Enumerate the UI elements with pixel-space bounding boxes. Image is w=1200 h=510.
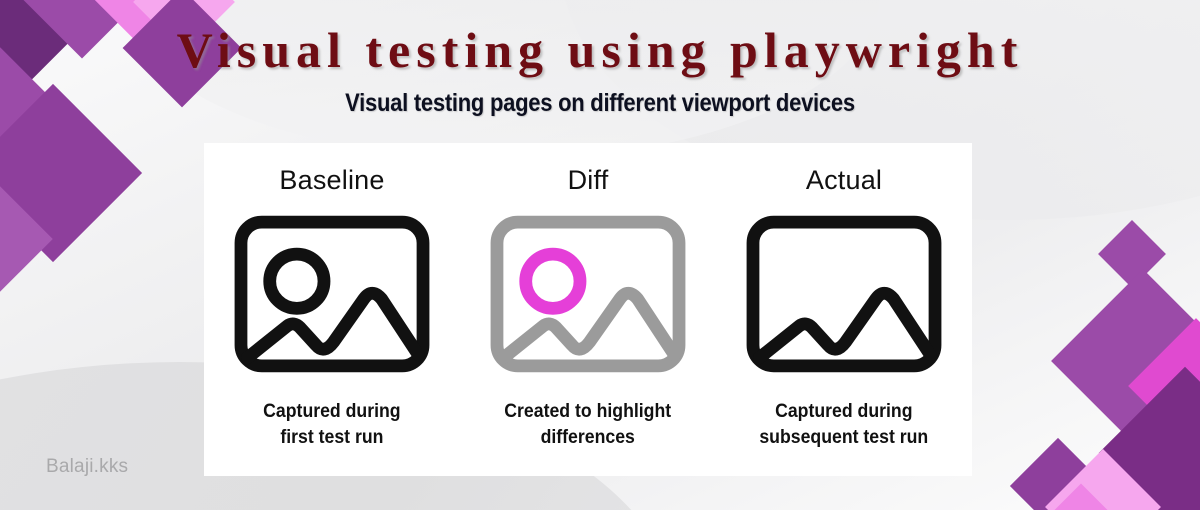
column-caption: Captured during subsequent test run bbox=[760, 399, 929, 451]
decor-diamond bbox=[1010, 438, 1106, 510]
column-icon bbox=[488, 213, 688, 375]
watermark: Balaji.kks bbox=[46, 456, 128, 478]
image-placeholder-icon bbox=[489, 214, 687, 374]
column-caption: Created to highlight differences bbox=[505, 399, 672, 451]
page-subtitle: Visual testing pages on different viewpo… bbox=[72, 88, 1128, 118]
page-title: Visual testing using playwright bbox=[0, 22, 1200, 78]
decor-diamond bbox=[1128, 318, 1200, 454]
comparison-column: ActualCaptured during subsequent test ru… bbox=[716, 143, 972, 476]
decor-diamond bbox=[1045, 449, 1161, 510]
column-title: Diff bbox=[568, 165, 609, 195]
column-icon bbox=[232, 213, 432, 375]
decor-diamond bbox=[0, 161, 53, 317]
slide-canvas: Visual testing using playwright Visual t… bbox=[0, 0, 1200, 510]
decor-diamond bbox=[1099, 367, 1200, 510]
column-caption: Captured during first test run bbox=[263, 399, 400, 451]
comparison-column: BaselineCaptured during first test run bbox=[204, 143, 460, 476]
decor-diamond bbox=[1051, 269, 1200, 453]
image-placeholder-icon bbox=[745, 214, 943, 374]
column-title: Actual bbox=[806, 165, 882, 195]
column-icon bbox=[744, 213, 944, 375]
comparison-columns: BaselineCaptured during first test runDi… bbox=[204, 143, 972, 476]
sun-circle-icon bbox=[526, 254, 580, 308]
comparison-column: DiffCreated to highlight differences bbox=[460, 143, 716, 476]
column-title: Baseline bbox=[279, 165, 384, 195]
decor-diamond bbox=[1098, 220, 1166, 288]
mountain-line-icon bbox=[759, 293, 930, 358]
image-placeholder-icon bbox=[233, 214, 431, 374]
decor-diamond bbox=[1032, 484, 1131, 510]
sun-circle-icon bbox=[270, 254, 324, 308]
